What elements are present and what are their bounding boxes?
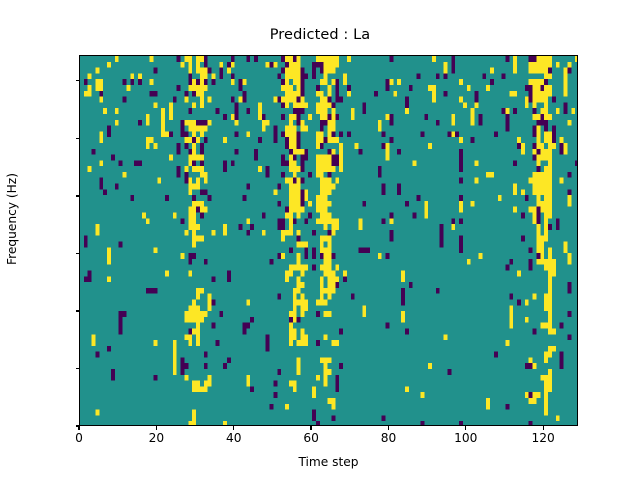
x-tick-label: 80	[348, 431, 428, 445]
y-tick-mark	[76, 253, 80, 254]
x-tick-mark	[233, 426, 234, 430]
x-axis-label: Time step	[79, 455, 578, 469]
y-tick-mark	[76, 368, 80, 369]
x-tick-label: 0	[39, 431, 119, 445]
x-tick-label: 40	[194, 431, 274, 445]
x-tick-mark	[78, 426, 79, 430]
heatmap-axes[interactable]	[79, 55, 578, 426]
x-tick-mark	[543, 426, 544, 430]
y-tick-mark	[76, 310, 80, 311]
x-tick-label: 20	[116, 431, 196, 445]
y-tick-mark	[76, 195, 80, 196]
y-axis-label: Frequency (Hz)	[5, 119, 19, 319]
y-tick-mark	[76, 138, 80, 139]
y-tick-mark	[76, 80, 80, 81]
heatmap-image	[80, 56, 578, 426]
x-tick-mark	[156, 426, 157, 430]
x-tick-mark	[465, 426, 466, 430]
x-tick-label: 120	[503, 431, 583, 445]
page-title: Predicted : La	[0, 27, 640, 43]
x-tick-mark	[388, 426, 389, 430]
x-tick-label: 60	[271, 431, 351, 445]
x-tick-mark	[310, 426, 311, 430]
x-tick-label: 100	[426, 431, 506, 445]
figure-canvas: Predicted : La 0200004000060000800001000…	[0, 0, 640, 480]
